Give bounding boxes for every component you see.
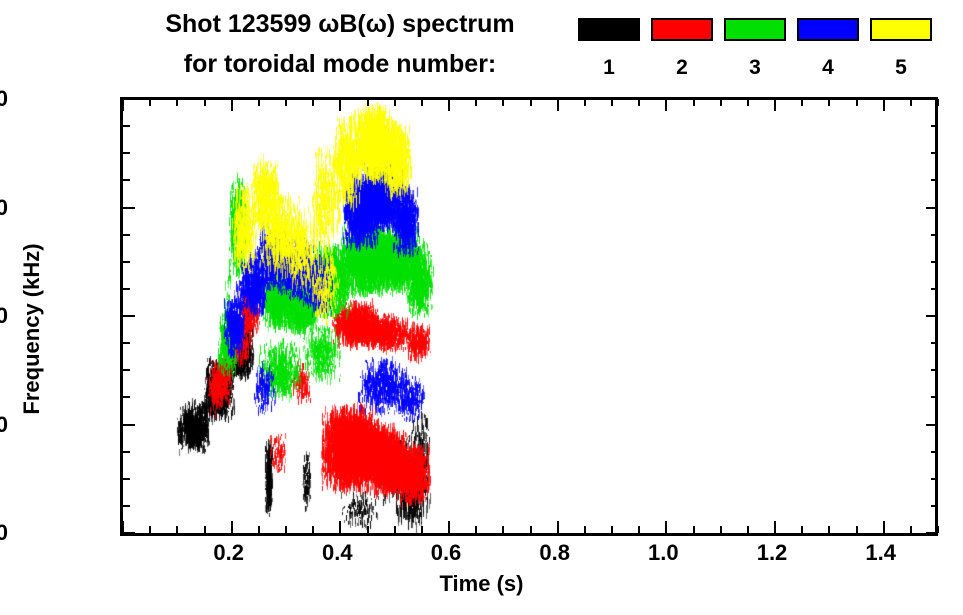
y-tick [931, 179, 938, 181]
x-tick [448, 99, 450, 111]
legend-swatch-1 [578, 18, 640, 41]
x-tick [258, 99, 260, 106]
y-tick-label: 200 [0, 86, 8, 112]
y-tick [931, 261, 938, 263]
x-tick [828, 526, 830, 533]
x-tick [530, 99, 532, 106]
x-tick [584, 526, 586, 533]
spectrogram-canvas [123, 99, 938, 533]
x-tick [502, 99, 504, 106]
x-tick [774, 521, 776, 533]
x-tick [312, 526, 314, 533]
y-tick [123, 532, 135, 534]
x-tick [176, 99, 178, 106]
legend-swatch-3 [724, 18, 786, 41]
legend-label-5: 5 [870, 56, 932, 80]
y-tick [123, 288, 130, 290]
legend-entry-5: 5 [870, 18, 932, 80]
x-tick [475, 526, 477, 533]
x-tick [828, 99, 830, 106]
x-tick [557, 99, 559, 111]
y-tick [123, 342, 130, 344]
x-tick-label: 1.4 [865, 540, 896, 566]
legend-label-3: 3 [724, 56, 786, 80]
x-tick [910, 99, 912, 106]
x-tick [747, 526, 749, 533]
x-tick [530, 526, 532, 533]
y-tick [931, 369, 938, 371]
plot-area [120, 99, 938, 536]
x-tick [394, 99, 396, 106]
y-tick [931, 125, 938, 127]
x-tick [149, 526, 151, 533]
y-tick [931, 234, 938, 236]
y-tick [123, 396, 130, 398]
y-tick [123, 315, 135, 317]
y-tick [123, 505, 130, 507]
y-tick [123, 179, 130, 181]
x-tick [638, 99, 640, 106]
legend-swatch-2 [651, 18, 713, 41]
title-line-1: Shot 123599 ωB(ω) spectrum [105, 4, 575, 44]
y-tick [123, 261, 130, 263]
x-tick [149, 99, 151, 106]
x-tick [937, 99, 939, 106]
x-tick [285, 526, 287, 533]
y-axis-title: Frequency (kHz) [19, 209, 45, 449]
x-tick [421, 99, 423, 106]
y-tick [926, 315, 938, 317]
legend-label-2: 2 [651, 56, 713, 80]
x-tick [502, 526, 504, 533]
x-tick [665, 99, 667, 111]
y-tick [123, 369, 130, 371]
x-tick [122, 99, 124, 111]
x-tick [339, 521, 341, 533]
x-tick [774, 99, 776, 111]
x-tick [204, 526, 206, 533]
chart-title: Shot 123599 ωB(ω) spectrum for toroidal … [105, 4, 575, 84]
x-tick [421, 526, 423, 533]
x-tick [856, 526, 858, 533]
x-tick [665, 521, 667, 533]
y-tick [123, 451, 130, 453]
legend-swatch-5 [870, 18, 932, 41]
x-tick [747, 99, 749, 106]
x-tick [258, 526, 260, 533]
y-tick-label: 0 [0, 520, 8, 546]
x-tick [204, 99, 206, 106]
x-tick [231, 99, 233, 111]
x-tick [720, 99, 722, 106]
x-tick [801, 99, 803, 106]
legend: 12345 [578, 18, 932, 80]
legend-entry-2: 2 [651, 18, 713, 80]
y-tick [123, 207, 135, 209]
y-tick [123, 234, 130, 236]
x-axis-title: Time (s) [0, 571, 963, 597]
x-tick [475, 99, 477, 106]
x-tick [448, 521, 450, 533]
x-tick [720, 526, 722, 533]
y-tick [123, 98, 135, 100]
x-tick [394, 526, 396, 533]
y-tick [931, 152, 938, 154]
y-tick [931, 288, 938, 290]
x-tick [801, 526, 803, 533]
x-tick-label: 1.0 [648, 540, 679, 566]
y-tick-label: 100 [0, 303, 8, 329]
x-tick [856, 99, 858, 106]
y-tick [931, 342, 938, 344]
y-tick [926, 207, 938, 209]
y-tick [123, 424, 135, 426]
x-tick-label: 0.2 [213, 540, 244, 566]
x-tick [883, 99, 885, 111]
y-tick-label: 50 [0, 412, 8, 438]
x-tick [693, 99, 695, 106]
x-tick [584, 99, 586, 106]
legend-label-1: 1 [578, 56, 640, 80]
y-tick [926, 532, 938, 534]
y-tick [123, 125, 130, 127]
y-tick [123, 152, 130, 154]
x-tick [557, 521, 559, 533]
x-tick [611, 99, 613, 106]
x-tick [367, 99, 369, 106]
legend-swatch-4 [797, 18, 859, 41]
x-tick-label: 0.8 [539, 540, 570, 566]
legend-entry-4: 4 [797, 18, 859, 80]
y-tick [931, 451, 938, 453]
y-tick [931, 396, 938, 398]
x-tick [611, 526, 613, 533]
y-axis-ticklabels [0, 0, 110, 615]
x-tick [339, 99, 341, 111]
x-tick [285, 99, 287, 106]
y-tick [926, 424, 938, 426]
x-tick [910, 526, 912, 533]
y-tick [926, 98, 938, 100]
x-tick-label: 1.2 [757, 540, 788, 566]
legend-entry-3: 3 [724, 18, 786, 80]
legend-label-4: 4 [797, 56, 859, 80]
x-tick [312, 99, 314, 106]
x-tick [693, 526, 695, 533]
x-tick [883, 521, 885, 533]
x-tick-label: 0.6 [431, 540, 462, 566]
x-tick [231, 521, 233, 533]
title-line-2: for toroidal mode number: [105, 44, 575, 84]
legend-entry-1: 1 [578, 18, 640, 80]
y-tick [931, 505, 938, 507]
y-tick-label: 150 [0, 195, 8, 221]
x-tick [367, 526, 369, 533]
x-tick [176, 526, 178, 533]
y-tick [123, 478, 130, 480]
y-tick [931, 478, 938, 480]
x-tick-label: 0.4 [322, 540, 353, 566]
x-tick [638, 526, 640, 533]
